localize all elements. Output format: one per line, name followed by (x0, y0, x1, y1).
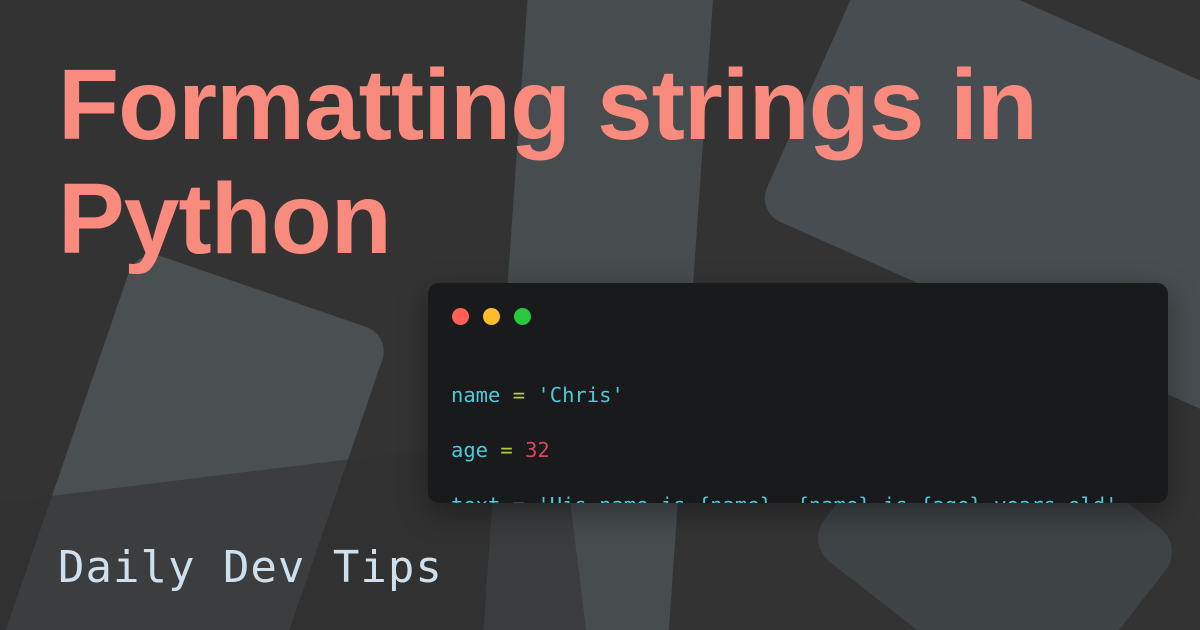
code-token-var: age (451, 438, 488, 462)
code-token-var: text (451, 493, 500, 504)
code-token-op: = (500, 438, 512, 462)
code-token-punct (525, 493, 537, 504)
code-window-titlebar (452, 308, 531, 325)
code-line: text = 'His name is {name}, {name} is {a… (451, 492, 1158, 504)
code-token-punct (500, 493, 512, 504)
page-title: Formatting strings in Python (58, 48, 1088, 276)
code-line: age = 32 (451, 437, 1158, 465)
code-window: name = 'Chris' age = 32 text = 'His name… (428, 283, 1168, 503)
code-token-num: 32 (525, 438, 550, 462)
minimize-icon[interactable] (483, 308, 500, 325)
code-token-op: = (513, 493, 525, 504)
code-token-punct (488, 438, 500, 462)
code-token-punct (500, 383, 512, 407)
code-body: name = 'Chris' age = 32 text = 'His name… (451, 382, 1158, 504)
code-token-punct (525, 383, 537, 407)
brand-footer: Daily Dev Tips (58, 540, 443, 596)
code-token-op: = (513, 383, 525, 407)
code-token-punct (513, 438, 525, 462)
code-token-str: 'Chris' (537, 383, 623, 407)
social-card: Formatting strings in Python name = 'Chr… (0, 0, 1200, 630)
code-token-str: 'His name is {name}, {name} is {age} yea… (537, 493, 1117, 504)
maximize-icon[interactable] (514, 308, 531, 325)
code-token-var: name (451, 383, 500, 407)
code-line: name = 'Chris' (451, 382, 1158, 410)
code-block: name = 'Chris' age = 32 text = 'His name… (451, 382, 1158, 504)
close-icon[interactable] (452, 308, 469, 325)
